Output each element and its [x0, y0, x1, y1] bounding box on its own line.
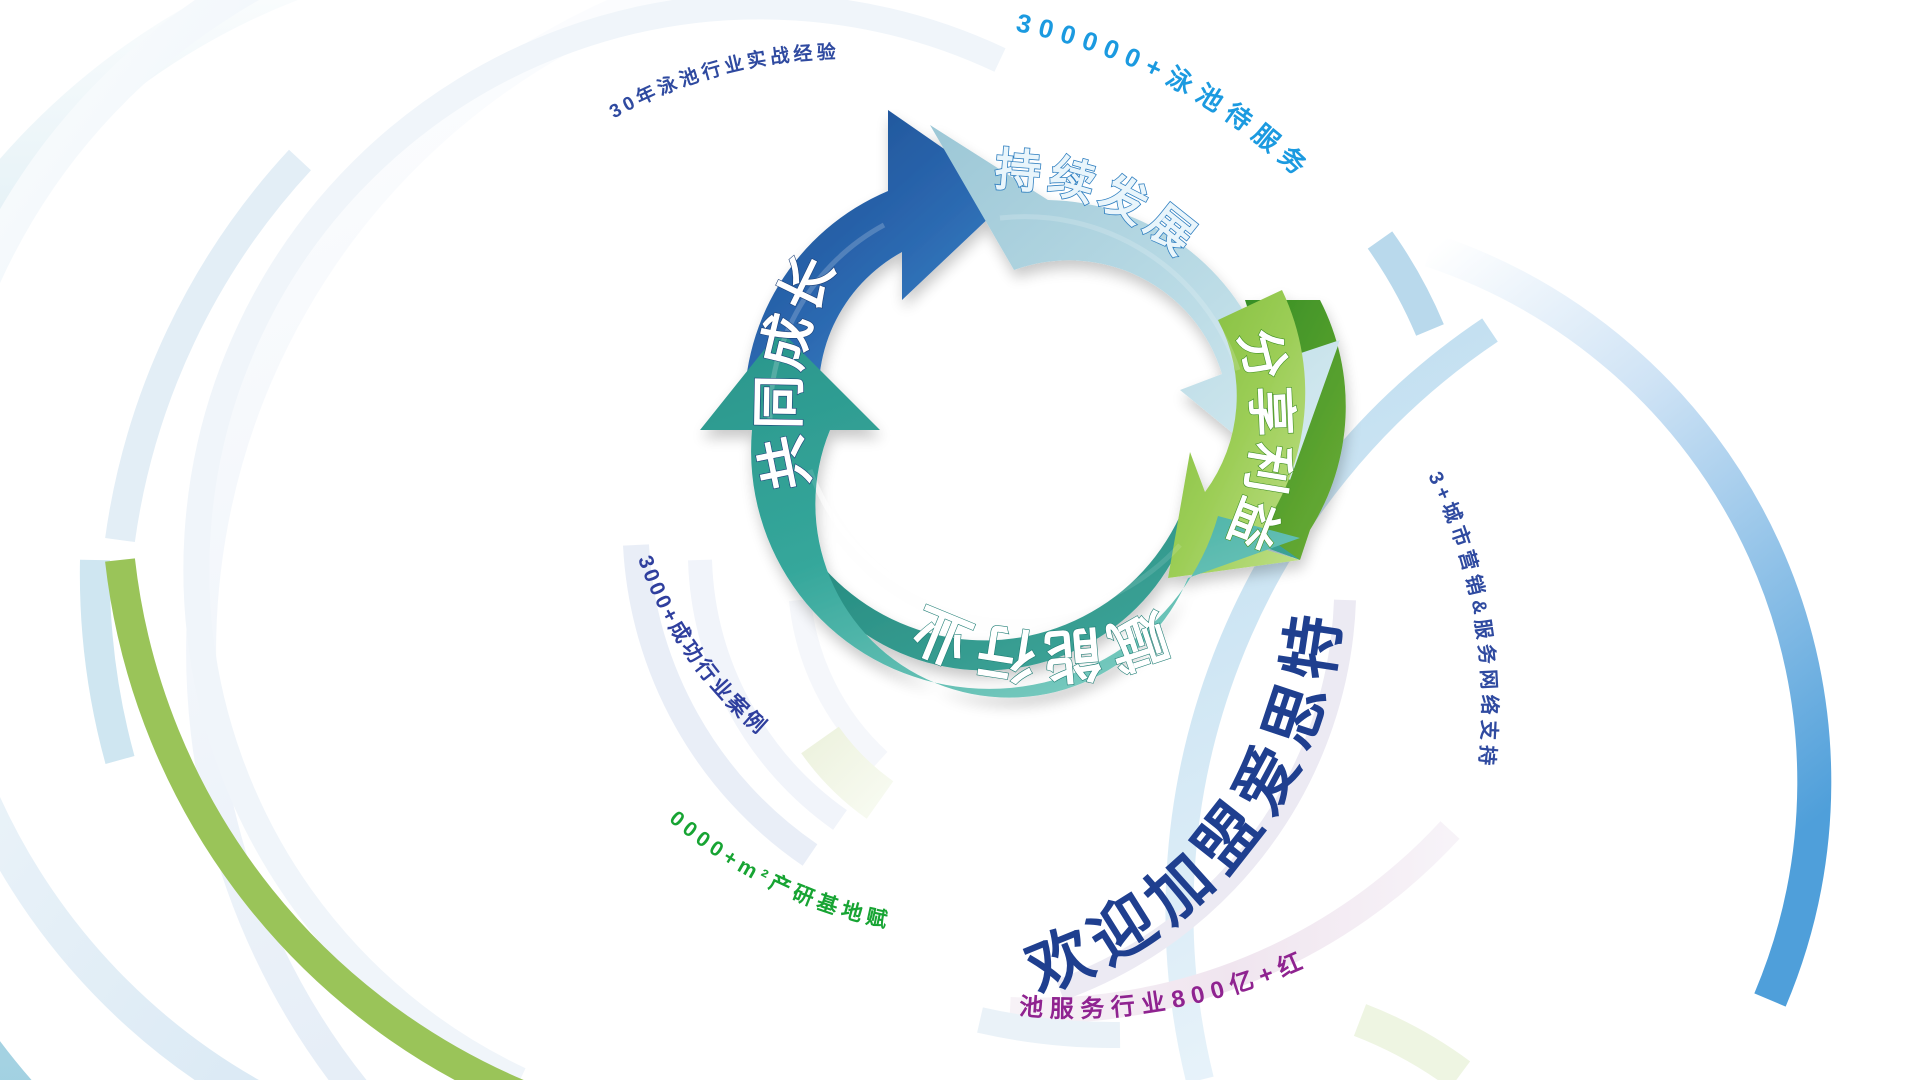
poster-canvas: 共同成长 持续发展 分享利益 赋能行业 30年泳池行业实战经验 300000+泳… [0, 0, 1920, 1080]
poster-svg: 共同成长 持续发展 分享利益 赋能行业 30年泳池行业实战经验 300000+泳… [0, 0, 1920, 1080]
